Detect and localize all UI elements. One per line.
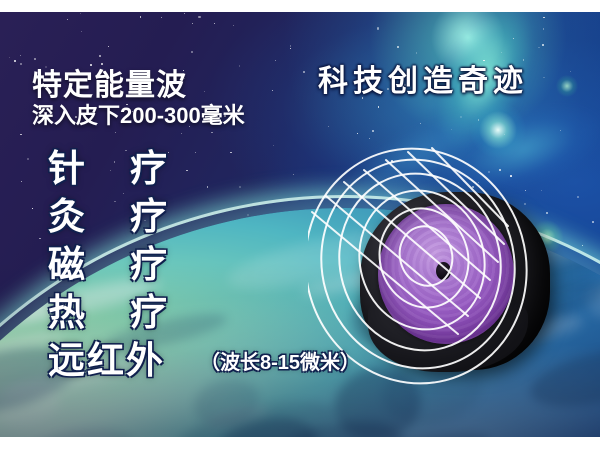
star (80, 13, 81, 14)
therapy-row: 远红外（波长8-15微米） (48, 338, 388, 386)
star (303, 71, 305, 73)
star (543, 17, 545, 19)
star (192, 23, 193, 24)
bottom-white-band (0, 437, 600, 450)
space-scene: 特定能量波 深入皮下200-300毫米 科技创造奇迹 针疗灸疗磁疗热疗远红外（波… (0, 12, 600, 437)
therapy-list: 针疗灸疗磁疗热疗远红外（波长8-15微米） (48, 146, 388, 386)
star (9, 57, 10, 58)
star (272, 90, 273, 91)
star (214, 23, 215, 24)
star (27, 158, 29, 160)
star (181, 133, 182, 134)
star (478, 182, 480, 184)
star (416, 52, 418, 54)
star (499, 169, 501, 171)
star (372, 130, 374, 132)
therapy-note: （波长8-15微米） (200, 346, 360, 380)
star (191, 51, 193, 53)
star (115, 132, 117, 134)
star (543, 28, 545, 30)
star (463, 181, 464, 182)
star (369, 138, 370, 139)
star (14, 60, 16, 62)
star (20, 134, 22, 136)
therapy-label-secondary: 疗 (130, 290, 167, 336)
page-subtitle: 深入皮下200-300毫米 (32, 98, 245, 130)
star (510, 175, 512, 177)
star (543, 77, 545, 79)
star (542, 44, 544, 46)
star (184, 13, 185, 14)
star (140, 16, 142, 18)
star (290, 45, 292, 47)
star (275, 60, 276, 61)
star (513, 38, 514, 39)
star (290, 48, 291, 49)
star (460, 116, 462, 118)
therapy-label-secondary: 疗 (130, 194, 167, 240)
therapy-row: 磁疗 (48, 242, 388, 290)
star (204, 91, 205, 92)
therapy-label-primary: 磁 (48, 242, 85, 288)
therapy-label-primary: 热 (48, 290, 85, 336)
therapy-row: 针疗 (48, 146, 388, 194)
star (451, 129, 452, 130)
star (377, 27, 379, 29)
star (67, 19, 68, 20)
therapy-row: 热疗 (48, 290, 388, 338)
star (108, 46, 109, 47)
slogan-text: 科技创造奇迹 (318, 56, 528, 100)
star (20, 63, 22, 65)
therapy-label-primary: 针 (48, 146, 85, 192)
star (378, 106, 379, 107)
star (478, 119, 480, 121)
star (504, 134, 505, 135)
star (21, 181, 22, 182)
star (538, 47, 540, 49)
star (570, 71, 571, 72)
star (397, 46, 399, 48)
star (560, 130, 562, 132)
therapy-row: 灸疗 (48, 194, 388, 242)
star (357, 133, 358, 134)
therapy-label-secondary: 疗 (130, 242, 167, 288)
star (577, 196, 579, 198)
device-center-hub (436, 262, 451, 280)
star (233, 25, 234, 26)
star (211, 132, 212, 133)
star (328, 126, 329, 127)
star (161, 17, 162, 18)
star (81, 31, 82, 32)
star (39, 238, 40, 239)
star (501, 52, 502, 53)
star (488, 171, 490, 173)
therapy-label-primary: 远红外 (48, 338, 165, 384)
therapy-label-primary: 灸 (48, 194, 85, 240)
star (391, 160, 393, 162)
star (420, 123, 421, 124)
star (20, 55, 21, 56)
star (198, 16, 200, 18)
star (239, 65, 241, 67)
poster-canvas: 特定能量波 深入皮下200-300毫米 科技创造奇迹 针疗灸疗磁疗热疗远红外（波… (0, 0, 600, 450)
star (32, 208, 33, 209)
therapy-label-secondary: 疗 (130, 146, 167, 192)
star (99, 55, 101, 57)
